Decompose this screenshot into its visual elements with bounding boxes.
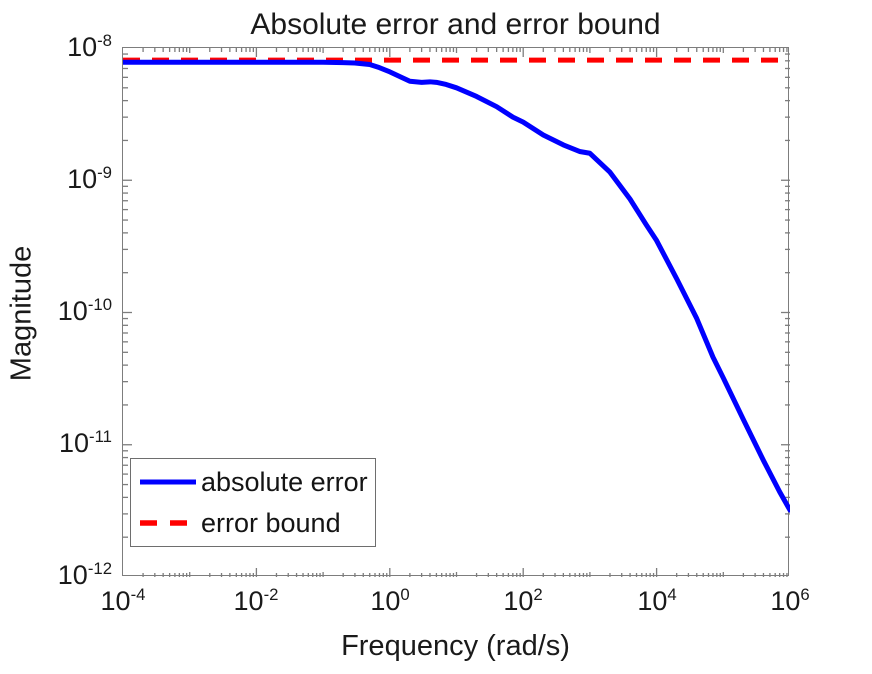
x-tick-label: 10-4 <box>63 588 183 615</box>
x-tick-label: 106 <box>730 588 850 615</box>
x-tick-exponent: -4 <box>131 585 146 604</box>
legend-label: error bound <box>201 509 341 537</box>
series-absolute-error-line <box>123 62 790 510</box>
x-tick-exponent: 4 <box>667 585 676 604</box>
x-tick-mantissa: 10 <box>370 586 400 616</box>
x-tick-label: 104 <box>597 588 717 615</box>
legend-item-absolute-error[interactable]: absolute error <box>131 461 375 503</box>
x-tick-mantissa: 10 <box>637 586 667 616</box>
x-tick-label: 102 <box>463 588 583 615</box>
legend-swatch-dashed-line-icon <box>139 511 197 535</box>
x-tick-mantissa: 10 <box>770 586 800 616</box>
x-tick-exponent: 0 <box>400 585 409 604</box>
x-tick-mantissa: 10 <box>503 586 533 616</box>
legend-item-error-bound[interactable]: error bound <box>131 502 375 544</box>
legend-swatch-solid-line-icon <box>139 470 197 494</box>
x-tick-mantissa: 10 <box>234 586 264 616</box>
x-tick-exponent: -2 <box>264 585 279 604</box>
figure-container: Absolute error and error bound Magnitude… <box>0 0 872 674</box>
legend[interactable]: absolute error error bound <box>130 458 376 547</box>
legend-label: absolute error <box>201 468 368 496</box>
x-tick-mantissa: 10 <box>101 586 131 616</box>
x-tick-label: 10-2 <box>196 588 316 615</box>
x-tick-exponent: 6 <box>800 585 809 604</box>
x-tick-label: 100 <box>330 588 450 615</box>
x-tick-exponent: 2 <box>533 585 542 604</box>
